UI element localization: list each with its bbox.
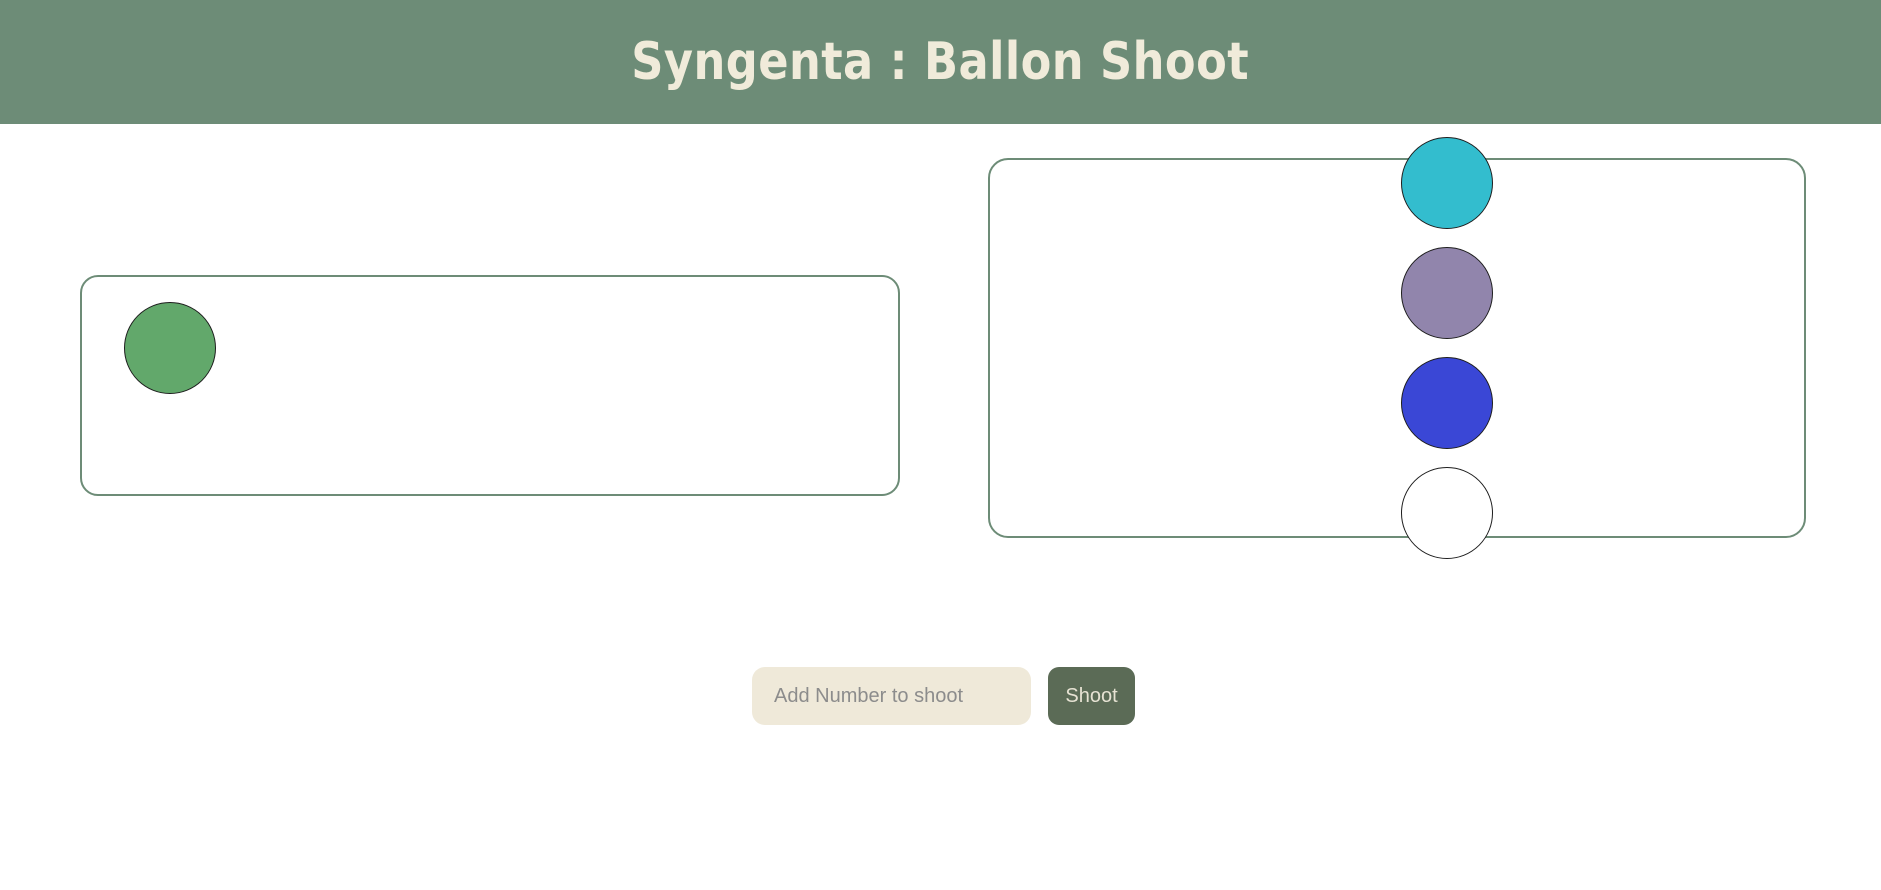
page-title: Syngenta : Ballon Shoot: [632, 36, 1250, 88]
player-balloon[interactable]: [124, 302, 216, 394]
game-stage: Shoot: [0, 124, 1881, 890]
player-balloon-tray: [80, 275, 900, 496]
target-balloon-column: [1401, 160, 1493, 536]
shoot-button[interactable]: Shoot: [1048, 667, 1135, 725]
target-cyan-balloon[interactable]: [1401, 137, 1493, 229]
target-blue-balloon[interactable]: [1401, 357, 1493, 449]
target-balloon-board: [988, 158, 1806, 538]
app-header: Syngenta : Ballon Shoot: [0, 0, 1881, 124]
target-white-balloon[interactable]: [1401, 467, 1493, 559]
shoot-number-input[interactable]: [752, 667, 1031, 725]
shoot-controls: Shoot: [752, 667, 1135, 725]
target-purple-balloon[interactable]: [1401, 247, 1493, 339]
